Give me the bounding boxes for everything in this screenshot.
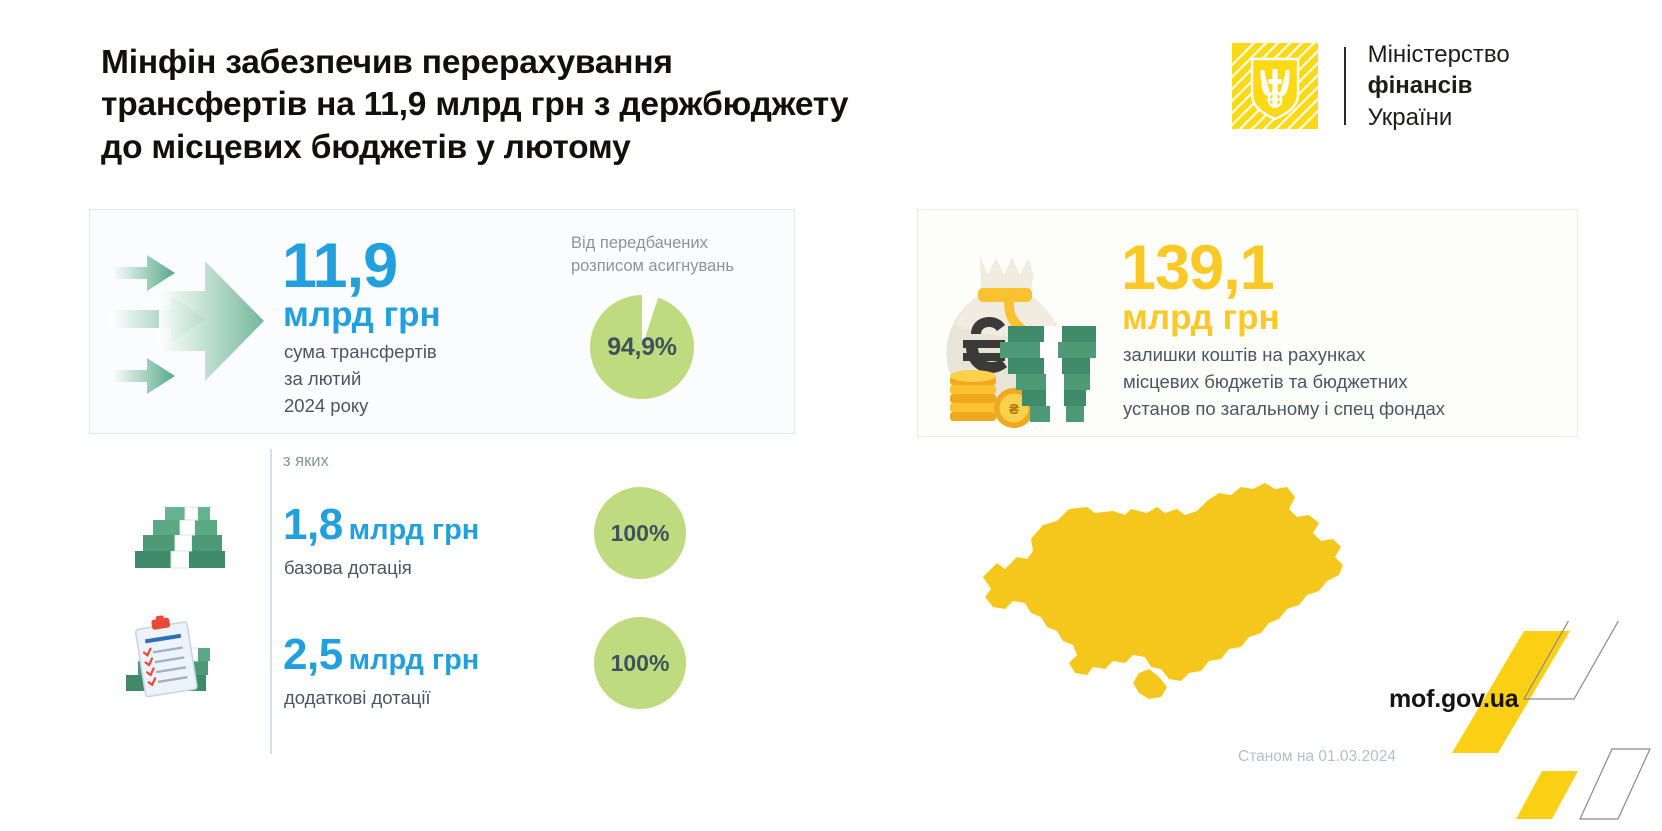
additional-subsidies-percent: 100%	[611, 650, 670, 677]
header: Мінфін забезпечив перерахування трансфер…	[0, 0, 1662, 185]
base-subsidy-percent: 100%	[611, 520, 670, 547]
allocations-pie-chart: 94,9%	[589, 294, 695, 400]
green-arrows-icon	[109, 248, 269, 398]
transfers-summary-card: 11,9 млрд грн сума трансфертів за лютий …	[89, 209, 795, 434]
transfers-value: 11,9	[282, 236, 397, 298]
additional-subsidies-unit: млрд грн	[349, 644, 480, 676]
site-url[interactable]: mof.gov.ua	[1389, 685, 1518, 714]
logo-text: Міністерство фінансів України	[1368, 39, 1510, 133]
base-subsidy-unit: млрд грн	[349, 514, 480, 546]
balances-card: ₴	[917, 209, 1578, 437]
balances-description: залишки коштів на рахунках місцевих бюдж…	[1123, 342, 1445, 422]
logo-line-ukraine: України	[1368, 102, 1510, 133]
base-subsidy-value: 1,8млрд грн	[283, 503, 479, 547]
infographic-page: Мінфін забезпечив перерахування трансфер…	[0, 0, 1662, 831]
breakdown-intro-label: з яких	[283, 452, 329, 471]
ukraine-map	[935, 463, 1355, 713]
additional-subsidies-percent-circle: 100%	[594, 617, 686, 709]
base-subsidy-label: базова дотація	[284, 556, 412, 580]
additional-subsidies-value: 2,5млрд грн	[283, 633, 479, 677]
svg-text:₴: ₴	[1009, 401, 1019, 418]
logo-line-ministry: Міністерство	[1368, 39, 1510, 70]
transfers-unit: млрд грн	[283, 297, 441, 332]
money-bag-icon: ₴	[930, 248, 1110, 430]
additional-subsidies-number: 2,5	[283, 630, 343, 679]
logo-divider	[1344, 47, 1346, 125]
corner-stripes-decoration	[1402, 621, 1662, 831]
page-title: Мінфін забезпечив перерахування трансфер…	[101, 42, 1111, 169]
base-subsidy-percent-circle: 100%	[594, 487, 686, 579]
pie-caption: Від передбачених розписом асигнувань	[571, 232, 734, 278]
logo-line-finance: фінансів	[1368, 70, 1510, 101]
clipboard-money-icon	[124, 613, 234, 705]
balances-unit: млрд грн	[1122, 300, 1280, 335]
as-of-date: Станом на 01.03.2024	[1238, 748, 1396, 766]
breakdown-divider	[270, 449, 272, 754]
ukraine-trident-emblem-icon	[1232, 43, 1318, 129]
pie-percent-label: 94,9%	[589, 294, 695, 400]
base-subsidy-number: 1,8	[283, 500, 343, 549]
balances-value: 139,1	[1121, 238, 1274, 300]
additional-subsidies-label: додаткові дотації	[284, 686, 431, 710]
ministry-logo: Міністерство фінансів України	[1232, 38, 1510, 134]
money-stack-icon	[129, 495, 239, 583]
transfers-description: сума трансфертів за лютий 2024 року	[284, 339, 437, 419]
